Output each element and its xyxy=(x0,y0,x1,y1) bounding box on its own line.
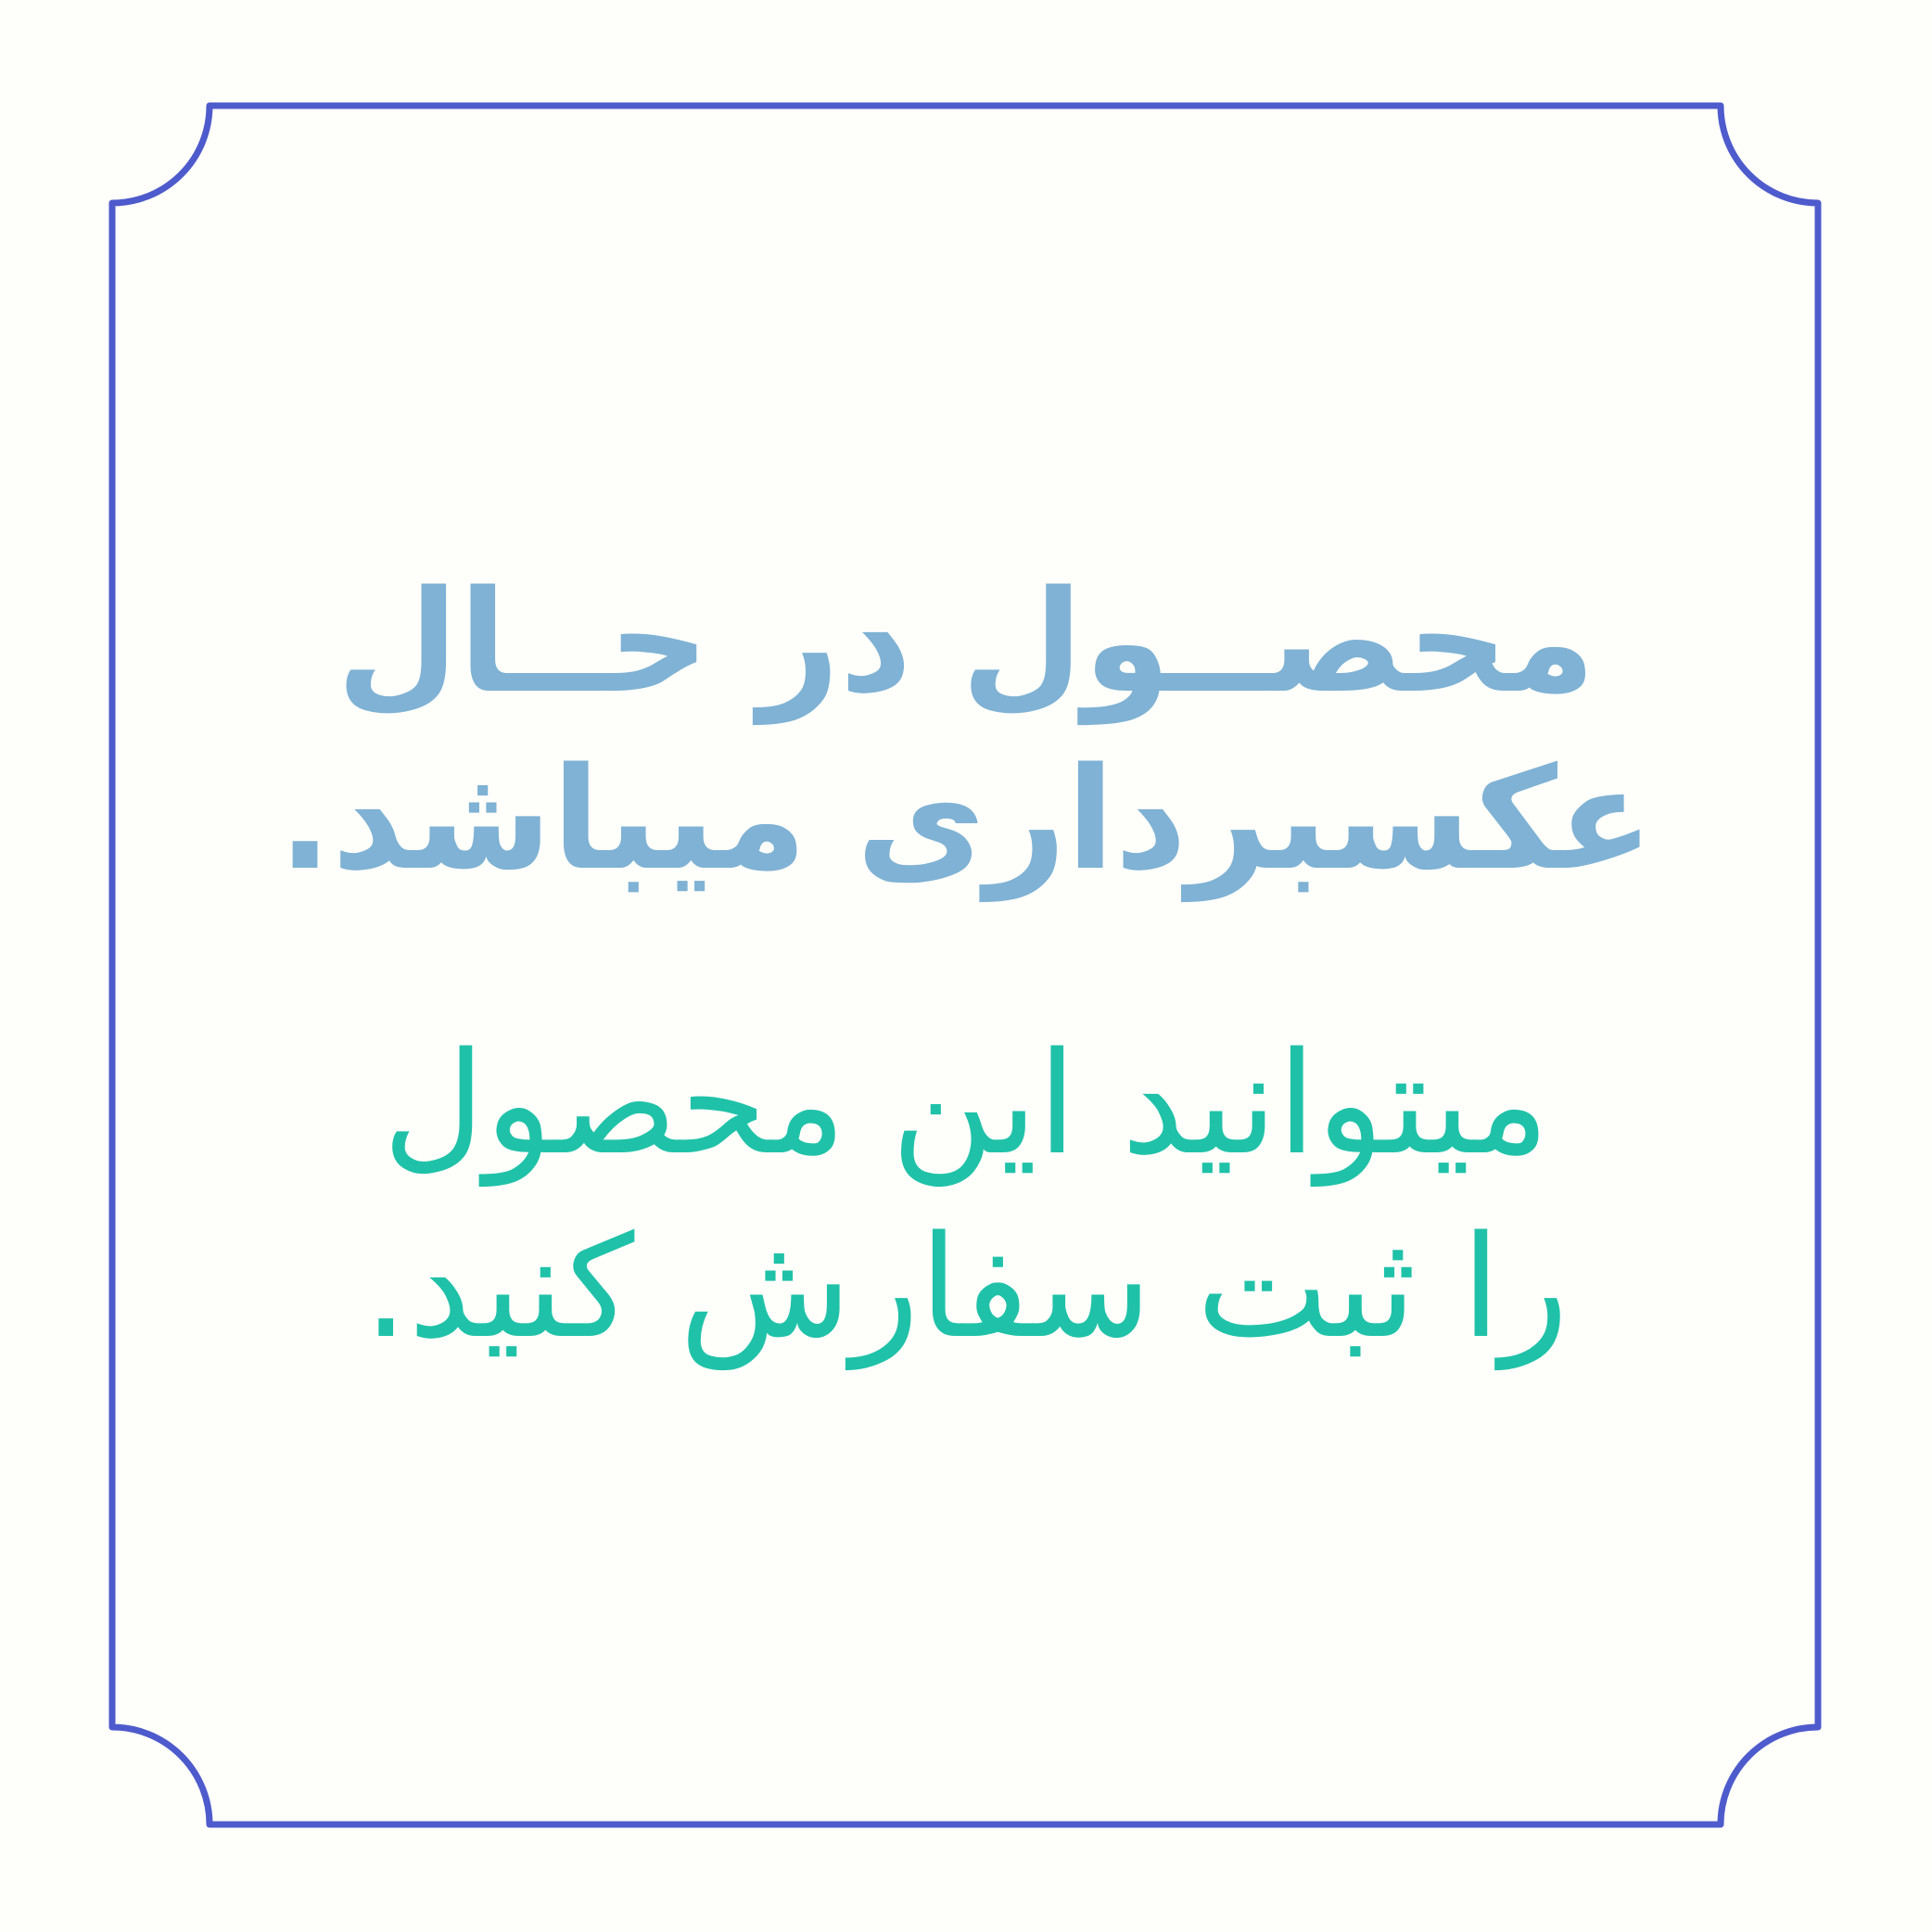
subline-block: میتوانید این محصول را ثبت سفارش کنید. xyxy=(243,1012,1689,1379)
subline-line-2: را ثبت سفارش کنید. xyxy=(243,1196,1689,1379)
subline-line-1: میتوانید این محصول xyxy=(243,1012,1689,1196)
headline-line-1: محصــول در حــال xyxy=(243,553,1689,731)
message-stack: محصــول در حــال عکسبرداری میباشد. میتوا… xyxy=(0,0,1932,1932)
headline-line-2: عکسبرداری میباشد. xyxy=(243,731,1689,909)
placeholder-card: محصــول در حــال عکسبرداری میباشد. میتوا… xyxy=(0,0,1932,1932)
subline-text: میتوانید این محصول را ثبت سفارش کنید. xyxy=(243,1012,1689,1379)
headline-text: محصــول در حــال عکسبرداری میباشد. xyxy=(243,553,1689,909)
headline-block: محصــول در حــال عکسبرداری میباشد. xyxy=(243,553,1689,909)
block-spacer xyxy=(0,909,1932,1012)
